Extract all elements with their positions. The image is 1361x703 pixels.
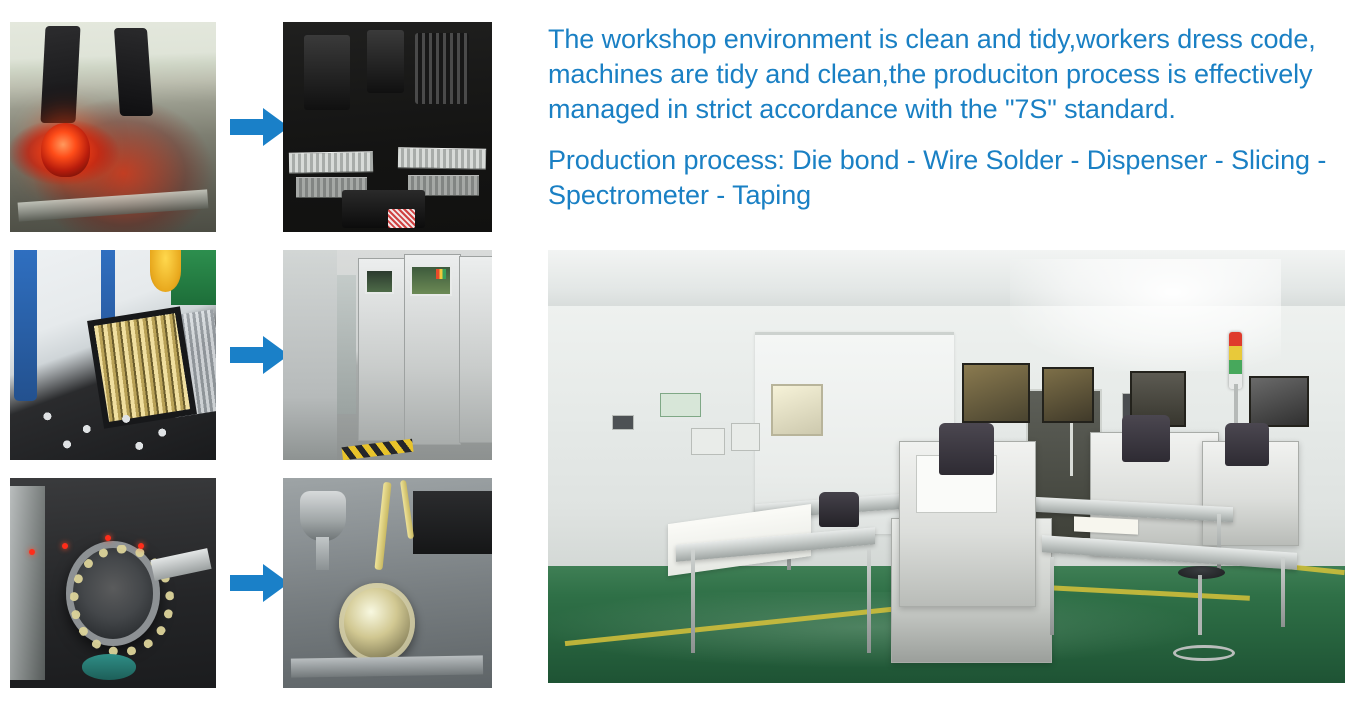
arrow-right-icon-row2 — [230, 335, 290, 375]
text-block: The workshop environment is clean and ti… — [548, 22, 1348, 213]
led-indicator — [138, 543, 144, 549]
machine-panel — [10, 486, 45, 679]
linear-slide — [151, 548, 212, 581]
workshop-description-paragraph: The workshop environment is clean and ti… — [548, 22, 1348, 127]
process-photo-ovens — [283, 250, 492, 460]
red-glow — [41, 123, 90, 178]
corridor-wall — [283, 250, 337, 460]
whiteboard — [771, 384, 823, 436]
arrow-right-icon-row1 — [230, 107, 290, 147]
control-screen — [365, 269, 394, 294]
wall-fixture — [612, 415, 635, 430]
conveyor-track — [398, 147, 486, 169]
page-root: The workshop environment is clean and ti… — [0, 0, 1361, 703]
teal-base — [82, 654, 136, 679]
photo-ovens — [283, 250, 492, 460]
blue-arm — [14, 250, 37, 401]
microscope — [1122, 415, 1170, 463]
photo-cleanroom-workshop — [548, 250, 1345, 683]
machine-bar — [291, 655, 484, 677]
photo-wire-solder — [283, 22, 492, 232]
stainless-hopper — [300, 491, 346, 541]
heatsink-block — [415, 33, 469, 104]
process-photo-dispenser — [10, 250, 216, 460]
machine-block — [367, 30, 405, 93]
arrow-right-icon-row3 — [230, 563, 290, 603]
led-indicator — [105, 535, 111, 541]
wall-sign — [660, 393, 702, 417]
bench-leg — [691, 549, 695, 653]
wall-notice — [691, 428, 725, 456]
equipment-monitor — [1042, 367, 1094, 423]
corridor-door — [337, 275, 356, 414]
blue-arm — [101, 250, 115, 326]
tray-dots — [31, 401, 196, 451]
photo-taping — [283, 478, 492, 688]
hazard-floor-tape — [341, 439, 413, 460]
warning-label — [388, 209, 415, 228]
wall-notice — [731, 423, 760, 451]
bench-leg — [1281, 557, 1285, 626]
process-photo-die-bond — [10, 22, 216, 232]
yellow-tube — [375, 482, 393, 571]
microscope — [939, 423, 995, 475]
oven-cabinet — [459, 256, 492, 443]
production-process-paragraph: Production process: Die bond - Wire Sold… — [548, 143, 1348, 213]
machine-rail — [18, 190, 208, 222]
led-indicator — [29, 549, 35, 555]
microscope — [819, 492, 859, 527]
machine-block — [304, 35, 350, 111]
microscope — [1225, 423, 1269, 466]
process-photo-taping — [283, 478, 492, 688]
led-indicator — [62, 543, 68, 549]
glass-dome-feeder — [339, 583, 414, 663]
photo-dispenser — [10, 250, 216, 460]
yellow-nozzle — [150, 250, 181, 292]
equipment-monitor — [1249, 376, 1309, 428]
photo-die-bond — [10, 22, 216, 232]
dark-machine-body — [413, 491, 492, 554]
process-photo-wire-solder — [283, 22, 492, 232]
conveyor-track — [289, 151, 373, 173]
photo-slicing — [10, 478, 216, 688]
lab-stool-pole — [1198, 575, 1202, 636]
equipment-monitor — [962, 363, 1030, 423]
hopper-spout — [316, 537, 329, 571]
bench-leg — [1050, 557, 1054, 635]
feature-photo-cleanroom — [548, 250, 1345, 683]
andon-signal-tower — [1229, 332, 1242, 388]
bench-leg — [867, 549, 871, 653]
process-photo-slicing — [10, 478, 216, 688]
indicator-lights — [436, 269, 446, 280]
